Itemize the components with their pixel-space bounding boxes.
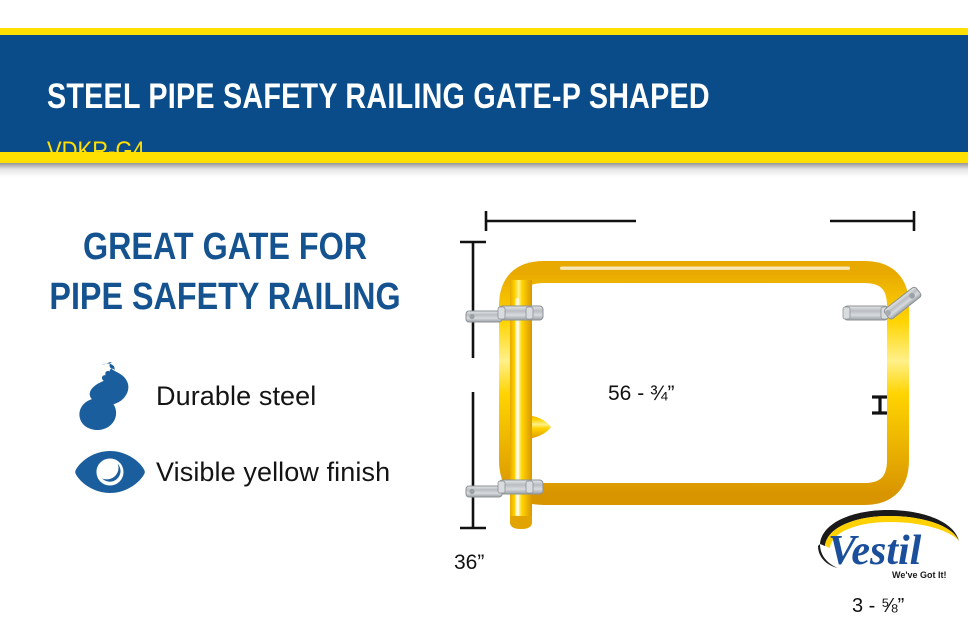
- dimension-line-height: [460, 242, 486, 528]
- gate-illustration: [440, 180, 960, 560]
- gate-outer-frame: [510, 272, 898, 494]
- dimension-label-width: 56 - ¾”: [608, 382, 675, 406]
- dimension-label-depth: 3 - ⅝”: [852, 595, 904, 618]
- depth-i-marker: [872, 397, 888, 413]
- vestil-logo: Vestil We've Got It!: [812, 508, 962, 588]
- logo-brand-text: Vestil: [828, 528, 922, 574]
- header-banner: STEEL PIPE SAFETY RAILING GATE-P SHAPED …: [0, 28, 968, 177]
- dimension-label-height: 36”: [454, 551, 484, 575]
- marketing-headline-line-1: GREAT GATE FOR: [34, 222, 417, 272]
- marketing-headline-line-2: PIPE SAFETY RAILING: [34, 272, 417, 322]
- mounting-bracket-lower-left: [466, 480, 543, 497]
- mounting-bracket-right-latch: [843, 286, 922, 320]
- marketing-headline: GREAT GATE FOR PIPE SAFETY RAILING: [0, 222, 450, 322]
- feature-item-durable-steel: Durable steel: [64, 358, 464, 434]
- header-body: STEEL PIPE SAFETY RAILING GATE-P SHAPED …: [0, 35, 968, 152]
- feature-label: Durable steel: [156, 381, 316, 412]
- gate-post-foot: [510, 516, 532, 529]
- page-title: STEEL PIPE SAFETY RAILING GATE-P SHAPED: [47, 79, 710, 114]
- mounting-bracket-upper-left: [466, 306, 543, 322]
- infographic-page: STEEL PIPE SAFETY RAILING GATE-P SHAPED …: [0, 0, 970, 600]
- feature-label: Visible yellow finish: [156, 457, 390, 488]
- logo-tagline: We've Got It!: [892, 570, 946, 580]
- header-drop-shadow: [0, 163, 968, 177]
- gate-highlights: [516, 267, 851, 517]
- eye-icon: [64, 447, 156, 497]
- dimension-line-width: [486, 211, 914, 231]
- feature-list: Durable steel Visible yellow finish: [64, 358, 464, 510]
- feature-item-visible-finish: Visible yellow finish: [64, 434, 464, 510]
- muscle-arm-icon: [64, 362, 156, 430]
- model-number: VDKR-G4: [47, 139, 145, 164]
- product-diagram: 56 - ¾” 36” 3 - ⅝”: [440, 180, 960, 560]
- header-bottom-accent-bar: [0, 152, 968, 163]
- header-top-accent-bar: [0, 28, 968, 35]
